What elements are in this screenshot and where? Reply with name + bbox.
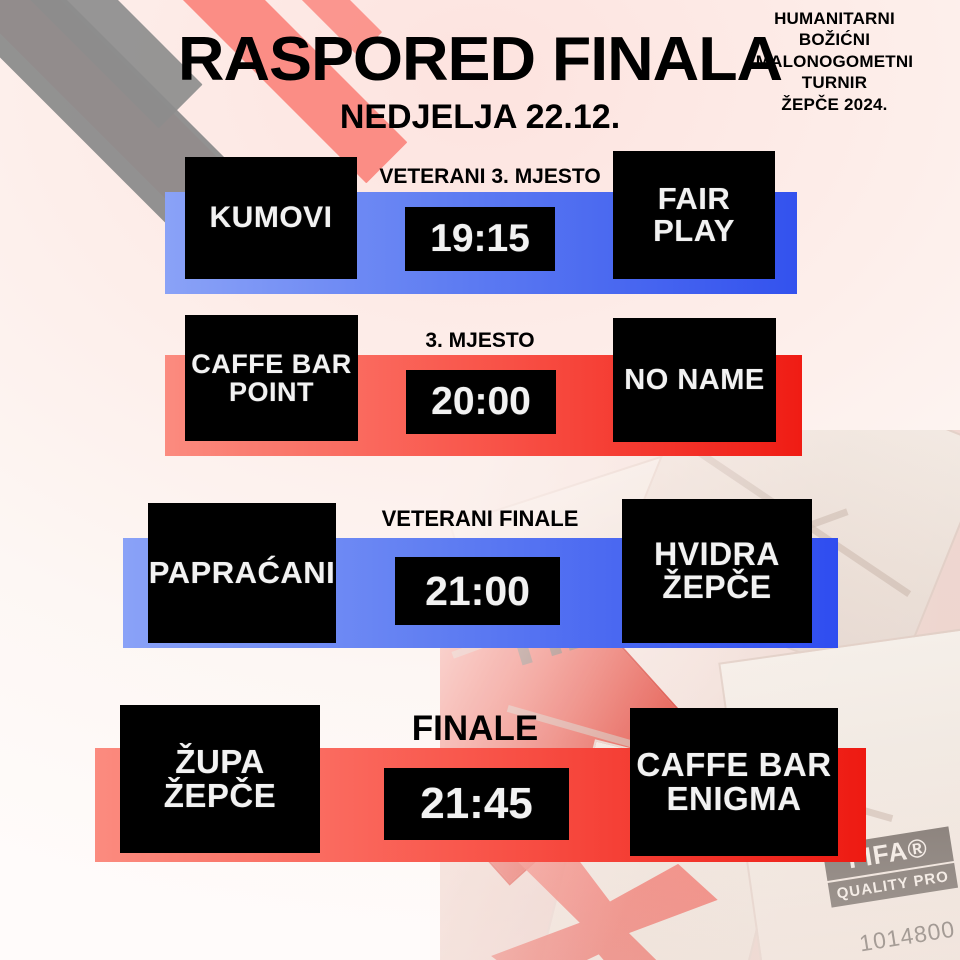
match-time-box: 20:00 <box>406 370 556 434</box>
home-team-box: ŽUPA ŽEPČE <box>120 705 320 853</box>
match-stage-label: VETERANI 3. MJESTO <box>318 165 662 189</box>
match-time-box: 21:00 <box>395 557 560 625</box>
tournament-line: HUMANITARNI <box>727 8 942 29</box>
away-team-box: HVIDRA ŽEPČE <box>622 499 812 643</box>
match-time-box: 21:45 <box>384 768 569 840</box>
tournament-name: HUMANITARNI BOŽIĆNI MALONOGOMETNI TURNIR… <box>727 8 942 115</box>
poster-canvas: TIPSTAR FIFA® QUALITY PRO 1014800 RASPOR… <box>0 0 960 960</box>
home-team-box: PAPRAĆANI <box>148 503 336 643</box>
match-stage-label: VETERANI FINALE <box>320 506 640 532</box>
match-stage-label: FINALE <box>330 709 620 749</box>
match-time-box: 19:15 <box>405 207 555 271</box>
away-team-box: FAIR PLAY <box>613 151 775 279</box>
tournament-line: MALONOGOMETNI <box>727 51 942 72</box>
home-team-box: KUMOVI <box>185 157 357 279</box>
away-team-box: CAFFE BAR ENIGMA <box>630 708 838 856</box>
tournament-line: BOŽIĆNI <box>727 29 942 50</box>
tournament-line: ŽEPČE 2024. <box>727 94 942 115</box>
match-stage-label: 3. MJESTO <box>330 329 630 353</box>
home-team-box: CAFFE BAR POINT <box>185 315 358 441</box>
away-team-box: NO NAME <box>613 318 776 442</box>
tournament-line: TURNIR <box>727 72 942 93</box>
